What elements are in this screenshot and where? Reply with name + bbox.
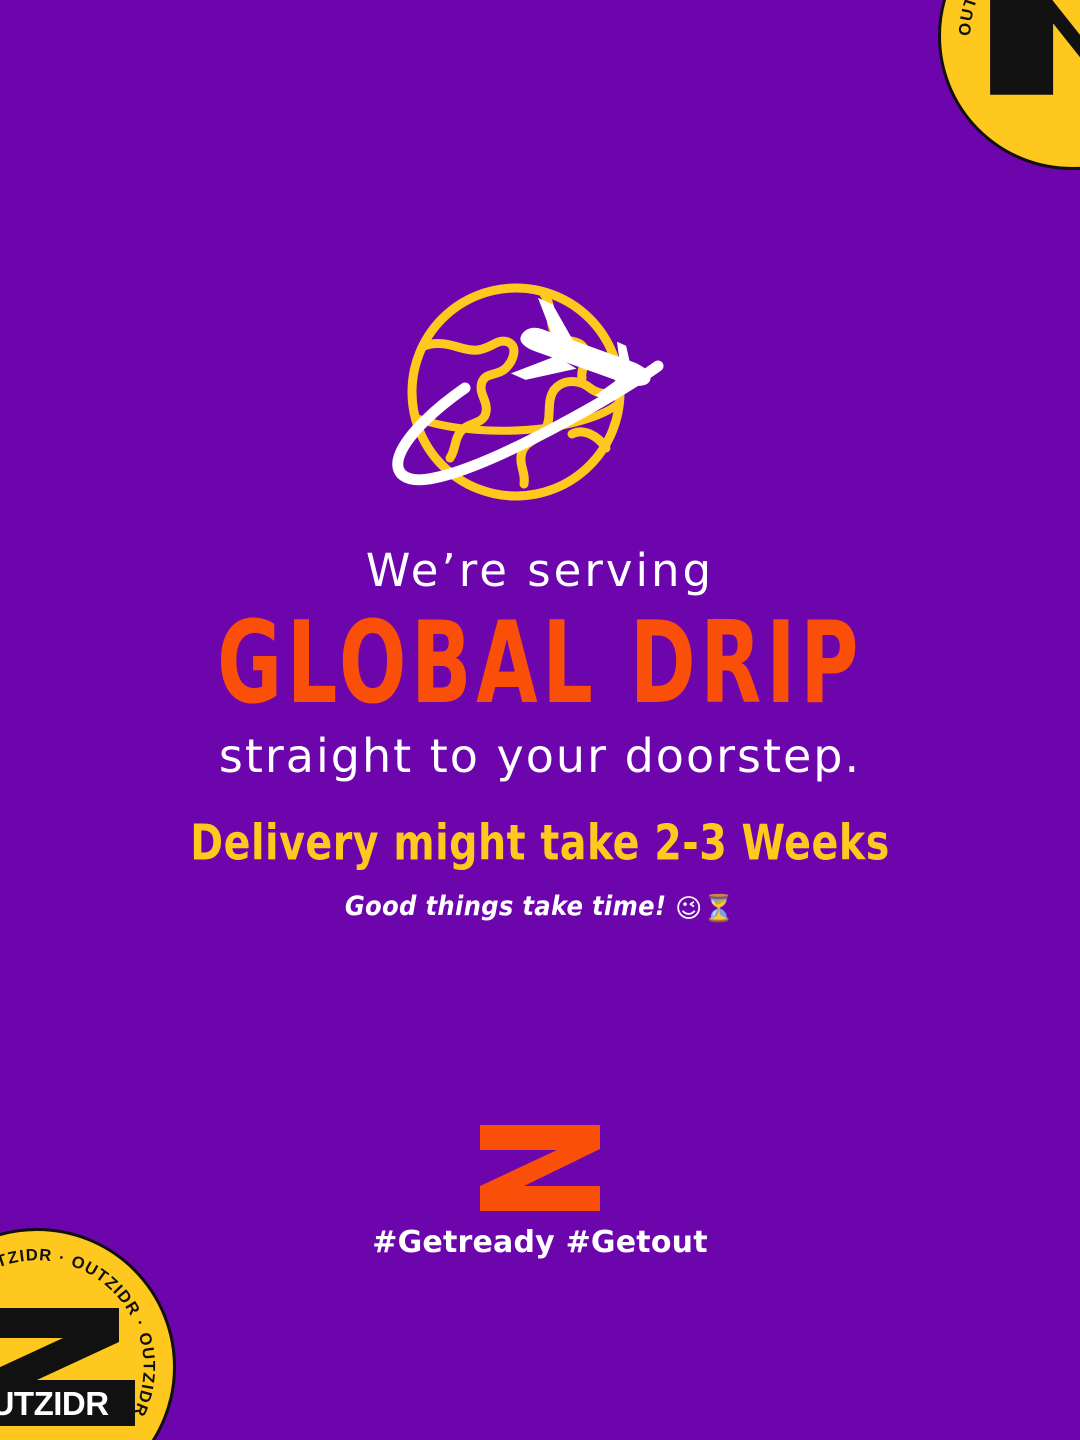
footer-brand-block: #Getready #Getout (0, 1124, 1080, 1258)
badge-top-right: OUTZIDR · OUTZIDR · OUTZIDR · OUTZIDR · (938, 0, 1080, 170)
outzidr-z-logo-icon (479, 1124, 601, 1212)
hourglass-emoji-icon: ⏳ (703, 894, 736, 924)
badge-wordmark-bar: OUTZIDR (0, 1380, 135, 1426)
delivery-subtext: Good things take time! 😉⏳ (0, 892, 1080, 924)
wink-face-emoji-icon: 😉 (675, 894, 702, 924)
globe-icon (412, 288, 620, 496)
headline-post-text: straight to your doorstep. (0, 733, 1080, 779)
badge-logo-stack: OUTZIDR (0, 1306, 135, 1428)
headline-pre-text: We’re serving (0, 548, 1080, 593)
z-mark-icon (988, 0, 1080, 100)
badge-bottom-left: OUTZIDR · OUTZIDR · OUTZIDR · OUTZIDR · … (0, 1228, 176, 1440)
badge-wordmark-label: OUTZIDR (0, 1387, 109, 1420)
globe-airplane-icon (358, 272, 706, 508)
badge-center-mark-top-right (941, 0, 1080, 167)
badge-center-mark-bottom-left: OUTZIDR (0, 1231, 173, 1440)
headline-block: We’re serving GLOBAL DRIP straight to yo… (0, 548, 1080, 779)
delivery-note-text: Delivery might take 2-3 Weeks (0, 818, 1080, 870)
poster-canvas: OUTZIDR · OUTZIDR · OUTZIDR · OUTZIDR · … (0, 0, 1080, 1440)
footer-tagline: #Getready #Getout (372, 1228, 707, 1258)
delivery-subtext-label: Good things take time! (345, 891, 667, 922)
page-title: GLOBAL DRIP (43, 606, 1037, 719)
delivery-block: Delivery might take 2-3 Weeks Good thing… (0, 818, 1080, 924)
